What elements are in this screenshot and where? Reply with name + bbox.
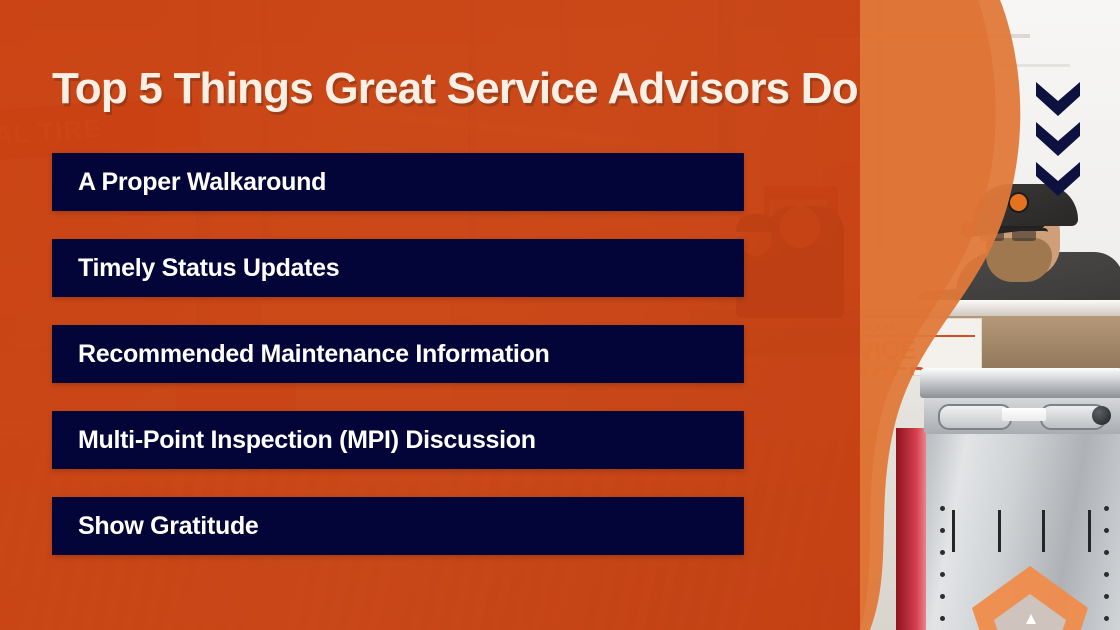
cart-vent-slot [1088,510,1091,552]
cart-light-strip [1002,408,1046,421]
list-item[interactable]: Timely Status Updates [52,239,744,297]
list-item-label: Timely Status Updates [78,254,339,283]
pentagon-logo-icon [970,564,1090,630]
list-item-label: A Proper Walkaround [78,168,326,197]
cart-rivet-column [1104,506,1109,621]
slide-canvas: RAL TIRE SCOTT CLARK SERVICE MANAGER [0,0,1120,630]
cart-top-surface [920,368,1120,398]
counter-top [860,300,1120,316]
list-bars: A Proper Walkaround Timely Status Update… [52,153,744,555]
right-window-rail [860,64,1070,67]
advisor-beard [986,238,1052,282]
advisor-glasses-lens-right [1012,229,1036,241]
list-item-label: Multi-Point Inspection (MPI) Discussion [78,426,536,455]
list-item-label: Show Gratitude [78,512,259,541]
list-item-label: Recommended Maintenance Information [78,340,550,369]
cart-knob [1092,406,1111,425]
list-item[interactable]: A Proper Walkaround [52,153,744,211]
page-title: Top 5 Things Great Service Advisors Do [52,64,858,114]
list-item[interactable]: Show Gratitude [52,497,744,555]
cart-body [926,432,1120,630]
advisor-glasses-lens-left [980,229,1004,241]
cart-red-panel-left [896,428,930,630]
list-item[interactable]: Multi-Point Inspection (MPI) Discussion [52,411,744,469]
cart-vent-slot [998,510,1001,552]
tool-cart [920,368,1120,630]
chevron-stack [1036,82,1080,198]
chevron-down-icon [1036,162,1080,198]
chevron-down-icon [1036,82,1080,118]
cart-handle-left [938,404,1012,430]
advisor-cap-logo [1008,192,1029,213]
list-item[interactable]: Recommended Maintenance Information [52,325,744,383]
sign-brand-text: SCOTT CLARK [860,323,981,333]
chevron-down-icon [1036,122,1080,158]
cart-vent-slot [1042,510,1045,552]
cart-rivet-column [940,506,945,621]
cart-vent-slot [952,510,955,552]
right-photo-panel: SCOTT CLARK SERVICE MANAGER [860,0,1120,630]
right-window-rail [860,34,1030,38]
